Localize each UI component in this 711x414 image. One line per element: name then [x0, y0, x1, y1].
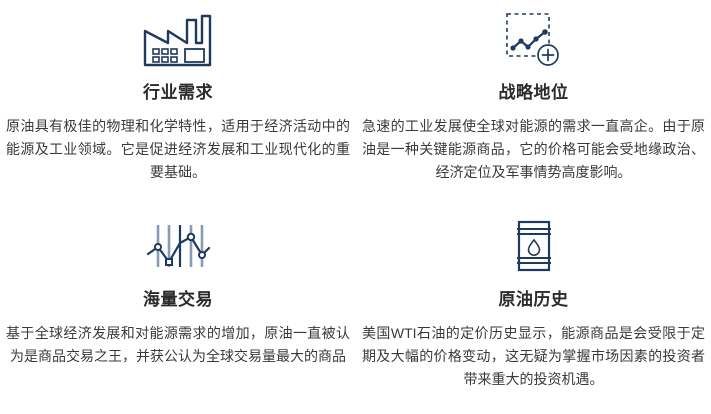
feature-card-industry-demand: 行业需求 原油具有极佳的物理和化学特性，适用于经济活动中的能源及工业领域。它是促… [0, 0, 356, 207]
card-title: 行业需求 [5, 82, 351, 104]
card-title: 原油历史 [361, 289, 706, 311]
volume-chart-icon [5, 207, 351, 285]
card-body: 原油具有极佳的物理和化学特性，适用于经济活动中的能源及工业领域。它是促进经济发展… [5, 115, 351, 184]
feature-grid: 行业需求 原油具有极佳的物理和化学特性，适用于经济活动中的能源及工业领域。它是促… [0, 0, 711, 414]
card-title: 海量交易 [5, 289, 351, 311]
card-title: 战略地位 [361, 82, 706, 104]
card-body: 美国WTI石油的定价历史显示，能源商品是会受限于定期及大幅的价格变动，这无疑为掌… [361, 322, 706, 391]
feature-card-strategic-position: 战略地位 急速的工业发展使全球对能源的需求一直高企。由于原油是一种关键能源商品，… [356, 0, 711, 207]
feature-card-massive-trading: 海量交易 基于全球经济发展和对能源需求的增加，原油一直被认为是商品交易之王，并获… [0, 207, 356, 414]
card-body: 急速的工业发展使全球对能源的需求一直高企。由于原油是一种关键能源商品，它的价格可… [361, 115, 706, 184]
factory-icon [5, 0, 351, 78]
card-body: 基于全球经济发展和对能源需求的增加，原油一直被认为是商品交易之王，并获公认为全球… [5, 322, 351, 368]
oil-barrel-icon [361, 207, 706, 285]
chart-add-icon [361, 0, 706, 78]
feature-card-crude-oil-history: 原油历史 美国WTI石油的定价历史显示，能源商品是会受限于定期及大幅的价格变动，… [356, 207, 711, 414]
